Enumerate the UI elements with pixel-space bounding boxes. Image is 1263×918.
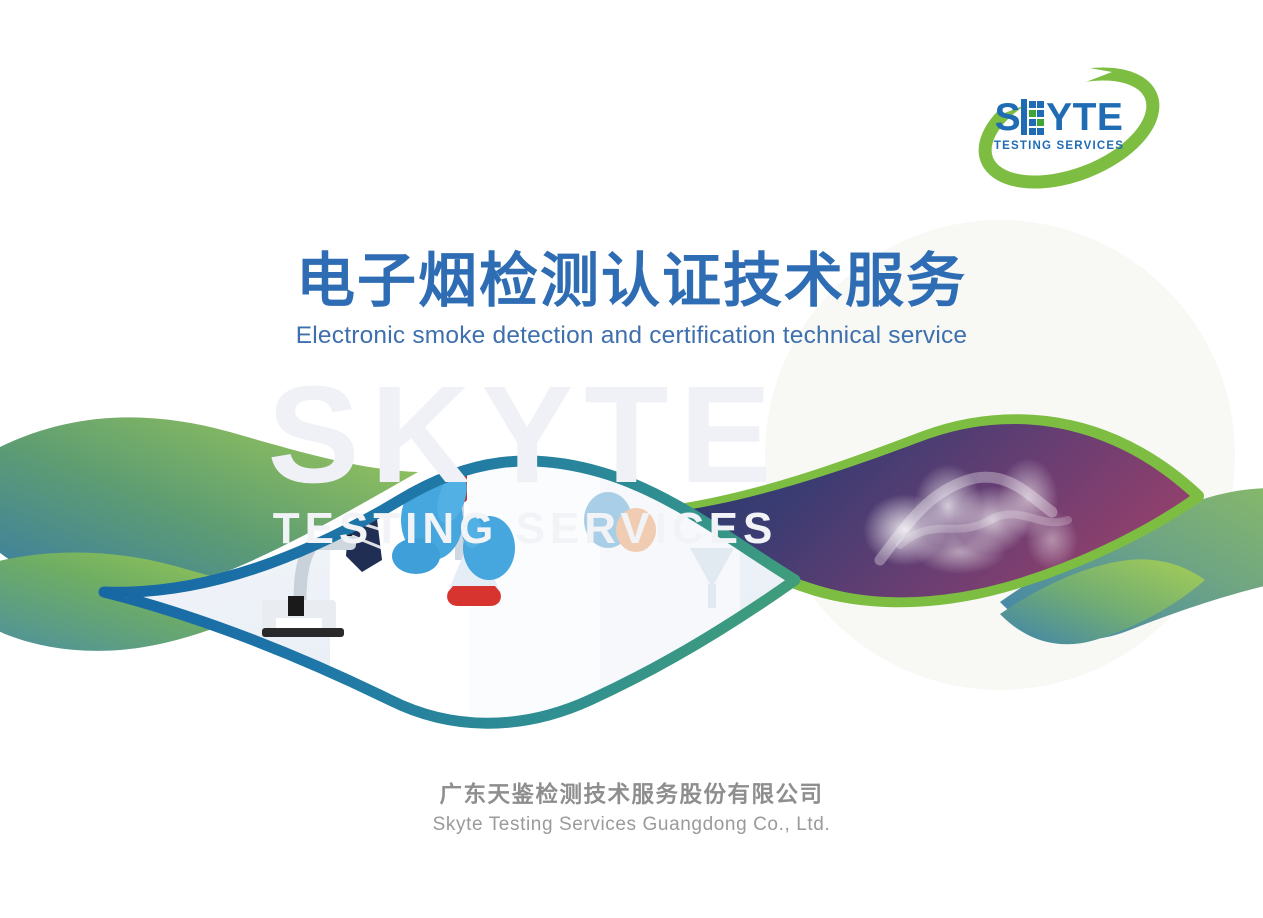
logo-wordmark: S YTE TESTING SERVICES [979, 98, 1139, 152]
company-name-cn: 广东天鉴检测技术服务股份有限公司 [0, 782, 1263, 809]
footer-block: 广东天鉴检测技术服务股份有限公司 Skyte Testing Services … [0, 782, 1263, 836]
company-name-en: Skyte Testing Services Guangdong Co., Lt… [0, 814, 1263, 836]
page-title: 电子烟检测认证技术服务 [0, 250, 1263, 312]
cover-page: SKYTE TESTING SERVICES S [0, 0, 1263, 918]
skyte-logo[interactable]: S YTE TESTING SERVICES [962, 58, 1177, 198]
logo-text-part2: YTE [1046, 96, 1123, 139]
logo-text-part1: S [995, 96, 1022, 139]
logo-k-pixel-icon [1021, 98, 1046, 136]
page-subtitle: Electronic smoke detection and certifica… [0, 322, 1263, 350]
logo-text: S YTE [979, 98, 1139, 137]
logo-tagline: TESTING SERVICES [979, 140, 1139, 152]
title-block: 电子烟检测认证技术服务 Electronic smoke detection a… [0, 250, 1263, 350]
